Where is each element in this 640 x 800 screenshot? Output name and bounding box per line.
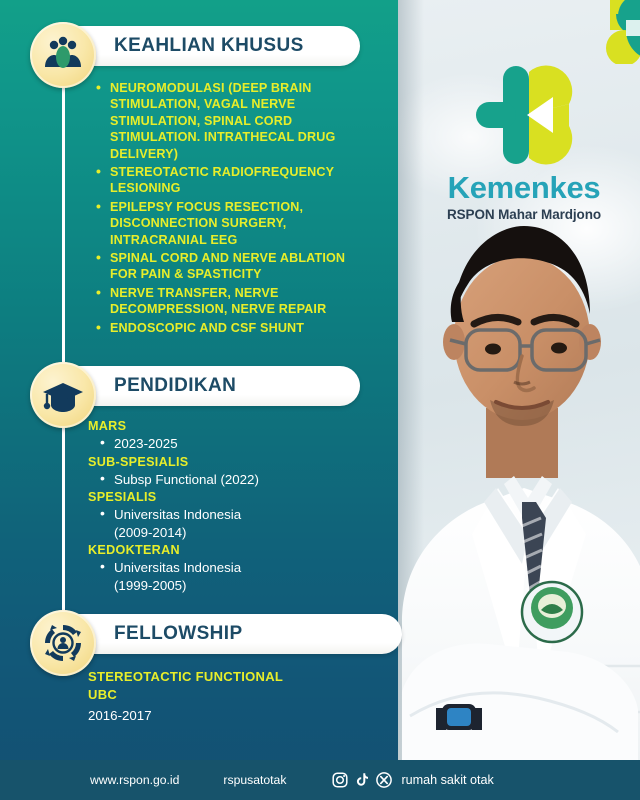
- doctor-portrait: [386, 196, 640, 762]
- kemenkes-wordmark: Kemenkes: [424, 172, 624, 205]
- education-label: SUB-SPESIALIS: [88, 454, 364, 471]
- education-entry: MARS 2023-2025: [88, 418, 364, 453]
- footer-social-group: rumah sakit otak: [332, 772, 493, 788]
- list-item: STEREOTACTIC RADIOFREQUENCY LESIONING: [96, 164, 364, 197]
- instagram-icon[interactable]: [332, 772, 348, 788]
- cycle-person-icon: [30, 610, 96, 676]
- list-item: NERVE TRANSFER, NERVE DECOMPRESSION, NER…: [96, 285, 364, 318]
- list-item: SPINAL CORD AND NERVE ABLATION FOR PAIN …: [96, 250, 364, 283]
- corner-logo-decoration: [554, 0, 640, 64]
- tiktok-icon[interactable]: [354, 772, 370, 788]
- section-title-keahlian: KEAHLIAN KHUSUS: [114, 35, 304, 57]
- education-detail: Universitas Indonesia (1999-2005): [88, 559, 364, 594]
- kemenkes-logo-icon: [470, 62, 578, 168]
- fellowship-heading: STEREOTACTIC FUNCTIONAL UBC: [88, 668, 358, 703]
- education-detail: Subsp Functional (2022): [88, 471, 364, 489]
- education-detail: 2023-2025: [88, 435, 364, 453]
- section-header-pill-keahlian[interactable]: KEAHLIAN KHUSUS: [56, 26, 360, 66]
- footer-social-name: rumah sakit otak: [401, 773, 493, 787]
- section-title-fellowship: FELLOWSHIP: [114, 623, 243, 645]
- pendidikan-groups-container: MARS 2023-2025 SUB-SPESIALIS Subsp Funct…: [88, 418, 364, 595]
- education-label: SPESIALIS: [88, 489, 364, 506]
- section-title-pendidikan: PENDIDIKAN: [114, 375, 236, 397]
- education-label: KEDOKTERAN: [88, 542, 364, 559]
- fellowship-year: 2016-2017: [88, 706, 358, 725]
- section-header-pill-pendidikan[interactable]: PENDIDIKAN: [56, 366, 360, 406]
- x-twitter-icon[interactable]: [376, 772, 392, 788]
- list-item: EPILEPSY FOCUS RESECTION, DISCONNECTION …: [96, 199, 364, 248]
- keahlian-list-container: NEUROMODULASI (DEEP BRAIN STIMULATION, V…: [96, 80, 364, 338]
- footer-bar: www.rspon.go.id rspusatotak: [0, 760, 640, 800]
- group-people-icon: [30, 22, 96, 88]
- education-entry: SPESIALIS Universitas Indonesia (2009-20…: [88, 489, 364, 541]
- kemenkes-logo-block: Kemenkes RSPON Mahar Mardjono: [424, 62, 624, 222]
- education-label: MARS: [88, 418, 364, 435]
- list-item: NEUROMODULASI (DEEP BRAIN STIMULATION, V…: [96, 80, 364, 162]
- education-entry: SUB-SPESIALIS Subsp Functional (2022): [88, 454, 364, 489]
- list-item: ENDOSCOPIC AND CSF SHUNT: [96, 320, 364, 336]
- keahlian-list: NEUROMODULASI (DEEP BRAIN STIMULATION, V…: [96, 80, 364, 336]
- timeline-line-upper: [62, 70, 65, 370]
- education-entry: KEDOKTERAN Universitas Indonesia (1999-2…: [88, 542, 364, 594]
- timeline-line-lower: [62, 412, 65, 618]
- section-header-pill-fellowship[interactable]: FELLOWSHIP: [56, 614, 402, 654]
- footer-handle[interactable]: rspusatotak: [223, 773, 286, 787]
- footer-website[interactable]: www.rspon.go.id: [90, 773, 179, 787]
- kemenkes-sub-label: RSPON Mahar Mardjono: [424, 207, 624, 222]
- fellowship-body: STEREOTACTIC FUNCTIONAL UBC 2016-2017: [88, 668, 358, 725]
- education-detail: Universitas Indonesia (2009-2014): [88, 506, 364, 541]
- poster-root: Kemenkes RSPON Mahar Mardjono: [0, 0, 640, 800]
- graduation-cap-icon: [30, 362, 96, 428]
